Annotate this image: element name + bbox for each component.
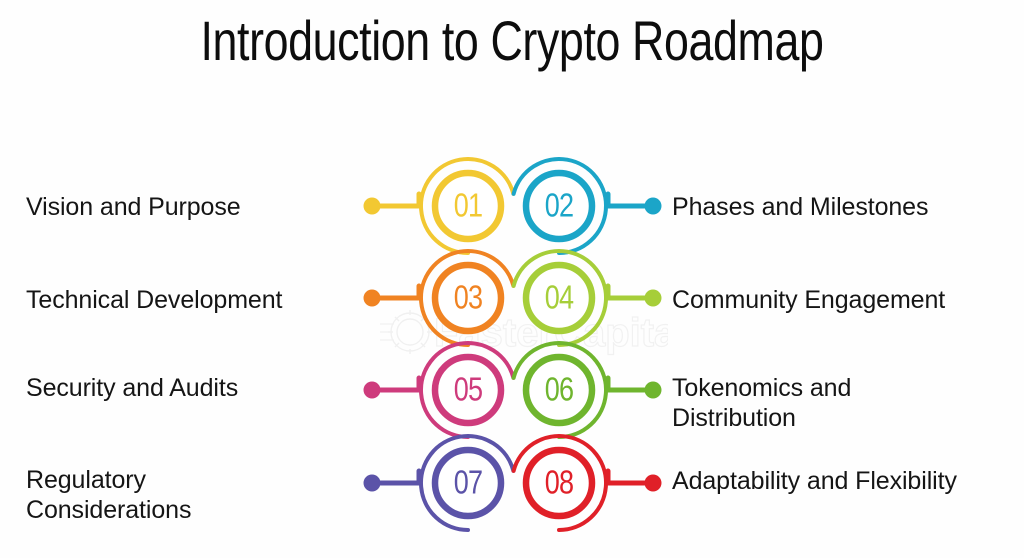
connector-dot xyxy=(645,290,662,307)
connector-dot xyxy=(364,290,381,307)
roadmap-node-01[interactable]: 01 xyxy=(364,159,514,253)
step-label-05: Security and Audits xyxy=(26,374,366,404)
roadmap-node-04[interactable]: 04 xyxy=(514,251,662,345)
step-number: 05 xyxy=(454,372,483,408)
step-label-06: Tokenomics and Distribution xyxy=(672,374,1020,433)
roadmap-node-05[interactable]: 05 xyxy=(364,343,514,437)
step-number: 04 xyxy=(545,280,574,316)
step-number: 01 xyxy=(454,188,483,224)
step-label-07: Regulatory Considerations xyxy=(26,466,366,525)
roadmap-node-07[interactable]: 07 xyxy=(364,436,514,530)
roadmap-node-02[interactable]: 02 xyxy=(514,159,662,253)
connector-dot xyxy=(364,198,381,215)
roadmap-node-06[interactable]: 06 xyxy=(514,343,662,437)
roadmap-node-03[interactable]: 03 xyxy=(364,251,514,345)
step-label-04: Community Engagement xyxy=(672,286,1020,316)
connector-dot xyxy=(364,382,381,399)
step-label-01: Vision and Purpose xyxy=(26,193,366,223)
connector-dot xyxy=(645,198,662,215)
infographic-canvas: Introduction to Crypto Roadmap FasterC xyxy=(0,0,1024,558)
step-label-08: Adaptability and Flexibility xyxy=(672,467,1020,497)
connector-dot xyxy=(645,382,662,399)
step-number: 06 xyxy=(545,372,574,408)
step-number: 07 xyxy=(454,465,483,501)
step-label-03: Technical Development xyxy=(26,286,366,316)
connector-dot xyxy=(364,475,381,492)
connector-dot xyxy=(645,475,662,492)
roadmap-node-08[interactable]: 08 xyxy=(514,436,662,530)
step-number: 03 xyxy=(454,280,483,316)
step-number: 08 xyxy=(545,465,574,501)
step-number: 02 xyxy=(545,188,574,224)
step-label-02: Phases and Milestones xyxy=(672,193,1020,223)
